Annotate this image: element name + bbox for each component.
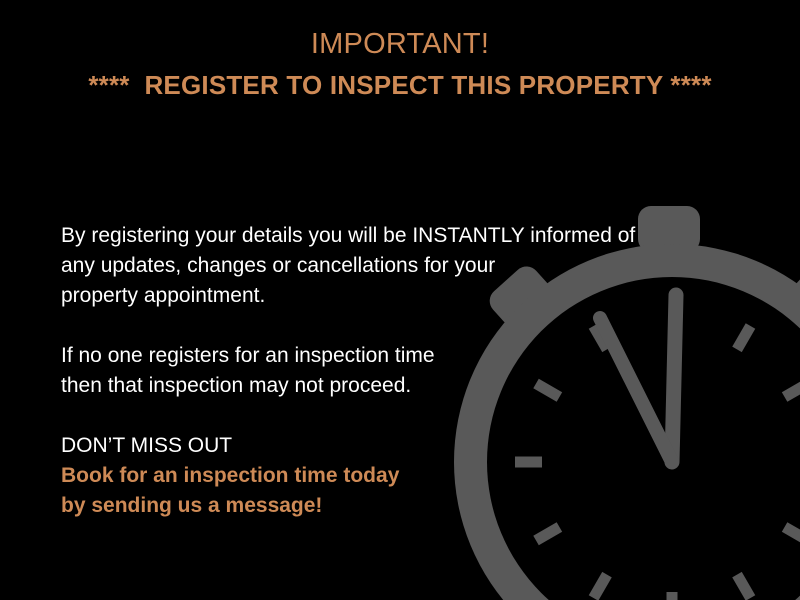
paragraph2-line2: then that inspection may not proceed. [61, 371, 721, 401]
headline-register: **** REGISTER TO INSPECT THIS PROPERTY *… [0, 68, 800, 102]
paragraph1-line2: any updates, changes or cancellations fo… [61, 251, 721, 281]
paragraph-registering-details: By registering your details you will be … [61, 221, 721, 311]
cta-dont-miss-out: DON’T MISS OUT [61, 431, 721, 461]
call-to-action-group: DON’T MISS OUT Book for an inspection ti… [61, 431, 721, 521]
slide-canvas: IMPORTANT! **** REGISTER TO INSPECT THIS… [0, 0, 800, 600]
body-copy-group: By registering your details you will be … [61, 221, 721, 521]
paragraph1-line1: By registering your details you will be … [61, 221, 721, 251]
headline-group: IMPORTANT! **** REGISTER TO INSPECT THIS… [0, 26, 800, 102]
paragraph-no-registration-warning: If no one registers for an inspection ti… [61, 341, 721, 401]
paragraph-spacer-2 [61, 401, 721, 431]
paragraph-spacer-1 [61, 311, 721, 341]
paragraph1-line3: property appointment. [61, 281, 721, 311]
headline-important: IMPORTANT! [0, 26, 800, 62]
paragraph2-line1: If no one registers for an inspection ti… [61, 341, 721, 371]
cta-send-message: by sending us a message! [61, 491, 721, 521]
stopwatch-right-lug [788, 261, 800, 331]
cta-book-inspection: Book for an inspection time today [61, 461, 721, 491]
